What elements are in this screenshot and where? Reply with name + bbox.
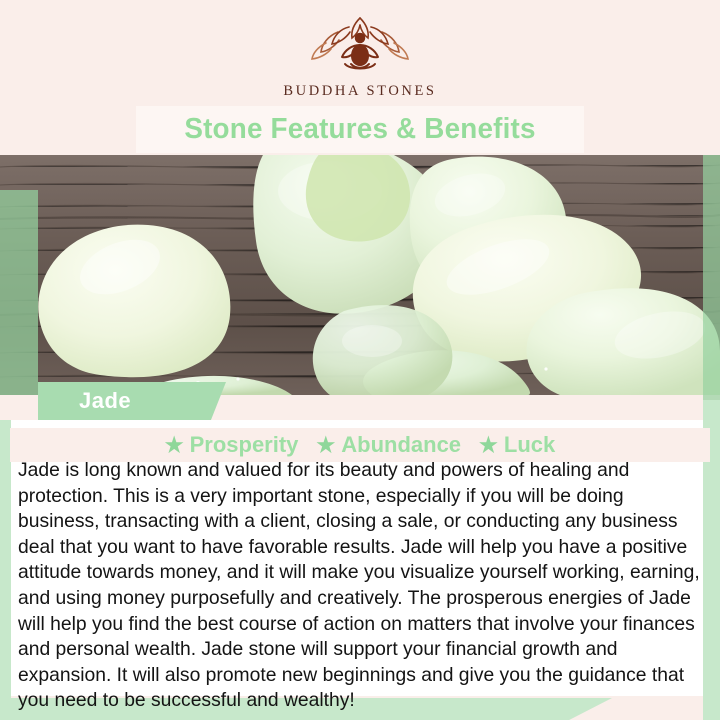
left-accent-strip-photo xyxy=(0,190,38,395)
benefit-label: Luck xyxy=(504,432,555,458)
benefit-item-luck: ★ Luck xyxy=(479,432,555,458)
benefits-row: ★ Prosperity ★ Abundance ★ Luck xyxy=(10,428,710,462)
star-icon: ★ xyxy=(165,435,184,456)
title-banner: Stone Features & Benefits xyxy=(136,106,584,153)
photo-illustration xyxy=(0,155,720,395)
benefit-label: Abundance xyxy=(341,432,461,458)
stone-name-label: Jade xyxy=(79,388,131,414)
benefit-label: Prosperity xyxy=(190,432,299,458)
jade-stones-photo xyxy=(0,155,720,395)
brand-logo: BUDDHA STONES xyxy=(283,14,436,100)
lotus-meditation-figure-icon xyxy=(308,14,412,80)
description-text: Jade is long known and valued for its be… xyxy=(18,458,701,714)
benefit-item-prosperity: ★ Prosperity xyxy=(165,432,299,458)
page-title: Stone Features & Benefits xyxy=(184,113,535,146)
infographic-page: BUDDHA STONES xyxy=(0,0,720,720)
brand-name: BUDDHA STONES xyxy=(283,83,436,100)
star-icon: ★ xyxy=(316,435,335,456)
left-accent-strip-body xyxy=(0,420,11,710)
benefit-item-abundance: ★ Abundance xyxy=(316,432,461,458)
star-icon: ★ xyxy=(479,435,498,456)
stone-name-band: Jade xyxy=(38,382,226,420)
